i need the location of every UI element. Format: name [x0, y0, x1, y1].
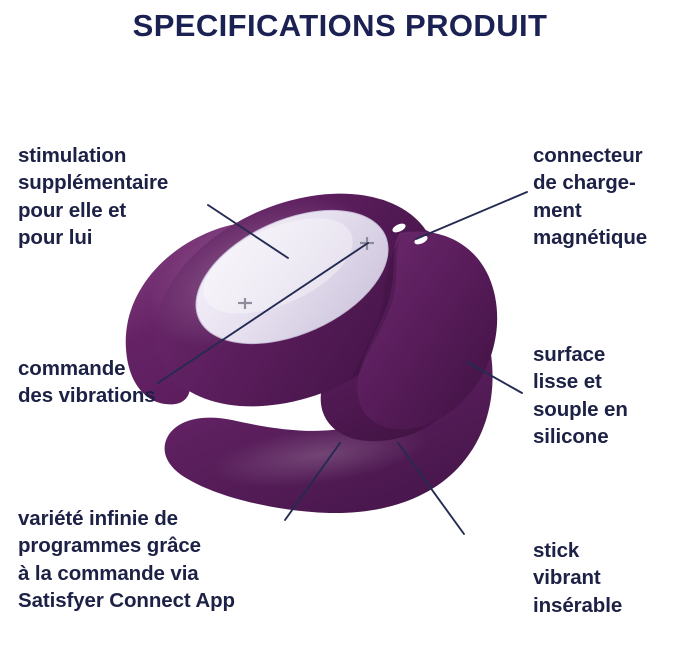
leader-line-charger: [416, 192, 527, 239]
infographic-page: SPECIFICATIONS PRODUIT: [0, 0, 680, 657]
callout-label-insertable-stick: stick vibrant insérable: [533, 537, 678, 619]
callout-label-silicone-surface: surface lisse et souple en silicone: [533, 341, 678, 450]
callout-label-vibration-control: commande des vibrations: [18, 355, 233, 410]
callout-label-connect-app: variété infinie de programmes grâce à la…: [18, 505, 328, 614]
callout-label-magnetic-charger: connecteur de charge- ment magnétique: [533, 142, 680, 251]
callout-label-extra-stimulation: stimulation supplémentaire pour elle et …: [18, 142, 233, 251]
